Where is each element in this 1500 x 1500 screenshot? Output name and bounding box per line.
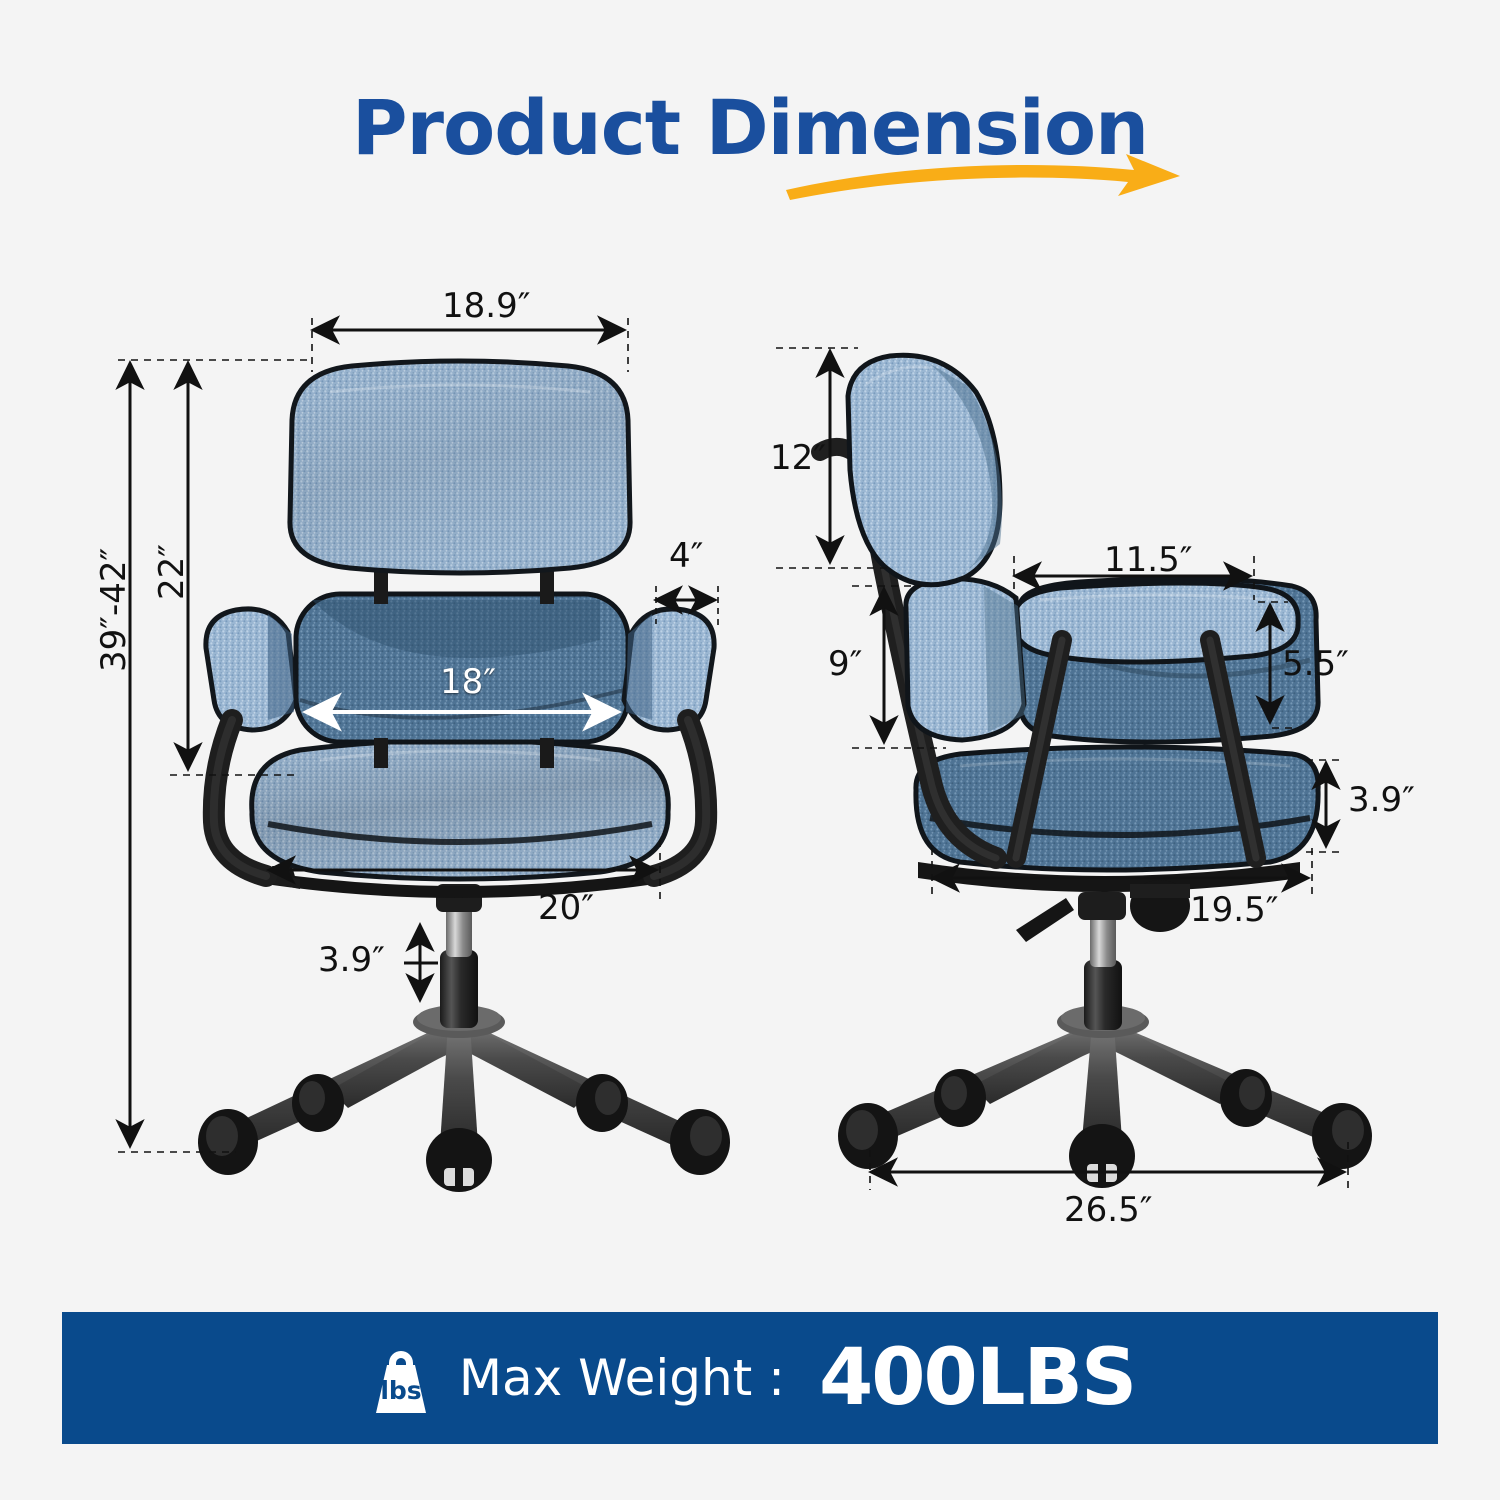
- side-chair-seat: [916, 747, 1318, 870]
- front-chair-backrest: [290, 361, 630, 573]
- max-weight-banner: lbs Max Weight : 400LBS: [62, 1312, 1438, 1444]
- front-chair-armrest-left: [206, 609, 296, 876]
- dim-overall-height: 39″-42″: [94, 548, 134, 672]
- dim-backrest-width: 18.9″: [442, 286, 530, 326]
- page-title-text: Product Dimension: [352, 83, 1148, 172]
- side-chair-arm-leg-front: [1016, 640, 1062, 858]
- dim-armrest-depth: 11.5″: [1104, 540, 1192, 580]
- dim-base-width: 26.5″: [1064, 1190, 1152, 1230]
- dim-armrest-width: 4″: [669, 536, 703, 576]
- side-chair-base: [872, 1005, 1336, 1140]
- front-chair-gas-lift: [436, 884, 482, 1028]
- front-chair-armrest-right: [624, 609, 714, 876]
- front-view-chair-graphic: [198, 361, 730, 1192]
- side-chair-armrest-pad: [1014, 583, 1298, 662]
- side-chair-lumbar: [1020, 579, 1318, 742]
- front-chair-post-left: [374, 560, 388, 604]
- max-weight-value: 400LBS: [819, 1333, 1135, 1423]
- weight-icon-text: lbs: [380, 1376, 421, 1405]
- front-chair-casters: [198, 1074, 730, 1192]
- dim-lumbar-height: 9″: [828, 644, 862, 684]
- side-chair-arm-leg-rear: [1210, 640, 1256, 858]
- side-chair-back-frame: [862, 448, 996, 858]
- max-weight-label: Max Weight :: [459, 1349, 785, 1407]
- dim-gas-lift-travel: 3.9″: [318, 940, 385, 980]
- dim-upper-back-height: 12″: [770, 438, 826, 478]
- side-chair-casters: [838, 1069, 1372, 1188]
- side-view-dimension-lines: [776, 348, 1348, 1190]
- side-view-chair-graphic: [820, 355, 1372, 1188]
- page-title-wrap: Product Dimension: [0, 88, 1500, 168]
- dim-seat-depth: 19.5″: [1190, 890, 1278, 930]
- side-chair-arm-hook: [820, 447, 872, 470]
- weight-lbs-icon: lbs: [365, 1339, 437, 1417]
- front-chair-seat: [252, 740, 669, 879]
- front-chair-base: [232, 1005, 688, 1145]
- dimension-illustration: [0, 0, 1500, 1500]
- side-chair-back-cushion-lower: [906, 579, 1026, 740]
- dim-lumbar-width: 18″: [440, 662, 496, 702]
- side-chair-backrest-upper: [848, 355, 1002, 585]
- dim-backrest-height: 22″: [152, 544, 192, 600]
- front-chair-mechanism: [265, 866, 655, 898]
- page-title: Product Dimension: [352, 88, 1148, 168]
- dim-armrest-to-seat: 5.5″: [1282, 644, 1349, 684]
- front-view-dimension-lines: [118, 318, 718, 1152]
- side-chair-gas-lift: [1078, 892, 1126, 1030]
- front-chair-post-right: [540, 560, 554, 604]
- dim-seat-width: 20″: [538, 888, 594, 928]
- dim-seat-thickness: 3.9″: [1348, 780, 1415, 820]
